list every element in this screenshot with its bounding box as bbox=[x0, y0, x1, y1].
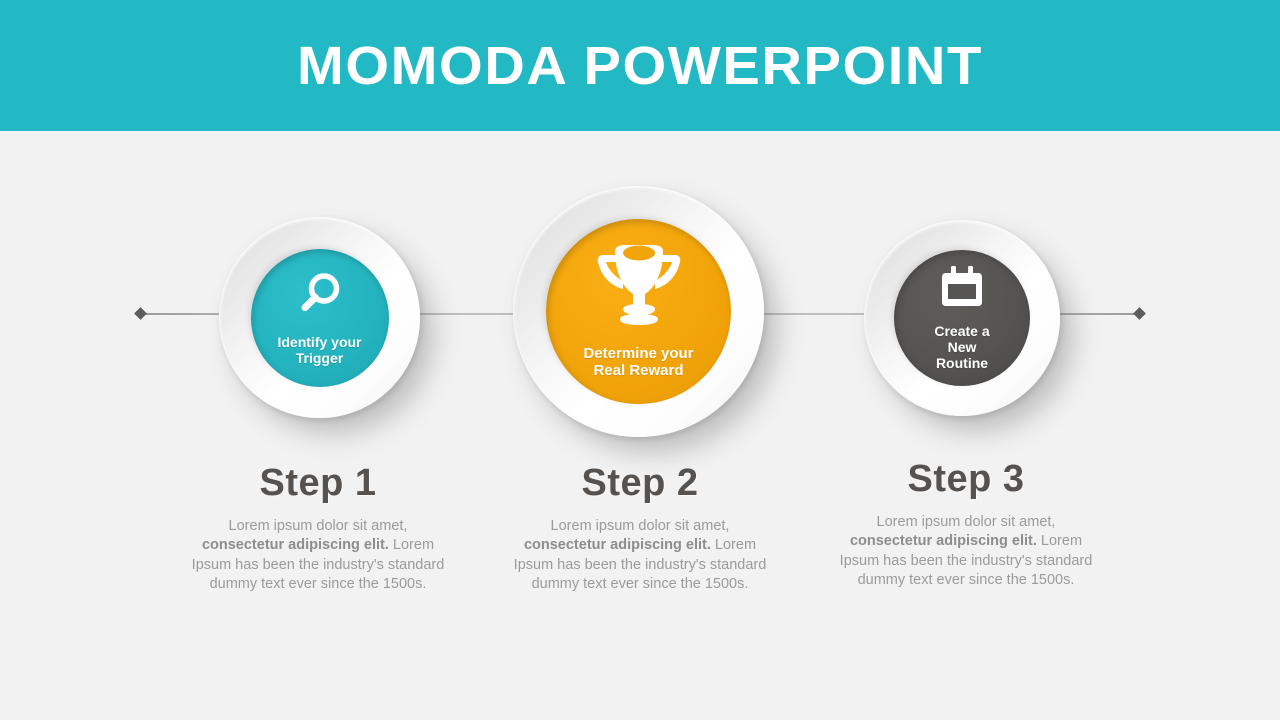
step-1-body-bold: consectetur adipiscing elit. bbox=[202, 537, 389, 553]
step-node-2-label: Determine your Real Reward bbox=[583, 346, 693, 380]
step-node-2[interactable]: Determine your Real Reward bbox=[513, 186, 764, 437]
timeline-right-marker-icon bbox=[1133, 307, 1146, 320]
step-column-2: Step 2 Lorem ipsum dolor sit amet, conse… bbox=[508, 462, 772, 594]
step-2-heading: Step 2 bbox=[508, 462, 772, 505]
step-column-3: Step 3 Lorem ipsum dolor sit amet, conse… bbox=[834, 458, 1098, 590]
step-3-body: Lorem ipsum dolor sit amet, consectetur … bbox=[834, 513, 1098, 590]
trophy-icon bbox=[593, 243, 685, 334]
step-3-body-bold: consectetur adipiscing elit. bbox=[850, 533, 1037, 549]
step-node-2-disc[interactable]: Determine your Real Reward bbox=[546, 219, 731, 404]
step-node-1-disc[interactable]: Identify your Trigger bbox=[251, 249, 389, 387]
step-3-heading: Step 3 bbox=[834, 458, 1098, 501]
step-1-body: Lorem ipsum dolor sit amet, consectetur … bbox=[186, 517, 450, 594]
calendar-icon bbox=[938, 264, 986, 315]
step-2-body: Lorem ipsum dolor sit amet, consectetur … bbox=[508, 517, 772, 594]
step-node-1-label: Identify your Trigger bbox=[277, 335, 361, 366]
timeline-left-marker-icon bbox=[134, 307, 147, 320]
step-node-3-label: Create a New Routine bbox=[934, 324, 989, 371]
step-1-heading: Step 1 bbox=[186, 462, 450, 505]
step-3-body-lead: Lorem ipsum dolor sit amet, bbox=[877, 514, 1056, 530]
step-2-body-lead: Lorem ipsum dolor sit amet, bbox=[551, 518, 730, 534]
step-1-body-lead: Lorem ipsum dolor sit amet, bbox=[229, 518, 408, 534]
step-node-1[interactable]: Identify your Trigger bbox=[219, 217, 420, 418]
step-node-3[interactable]: Create a New Routine bbox=[864, 220, 1060, 416]
step-node-3-disc[interactable]: Create a New Routine bbox=[894, 250, 1030, 386]
magnifier-icon bbox=[294, 268, 346, 325]
page-title: MOMODA POWERPOINT bbox=[0, 0, 1280, 131]
step-2-body-bold: consectetur adipiscing elit. bbox=[524, 537, 711, 553]
step-column-1: Step 1 Lorem ipsum dolor sit amet, conse… bbox=[186, 462, 450, 594]
